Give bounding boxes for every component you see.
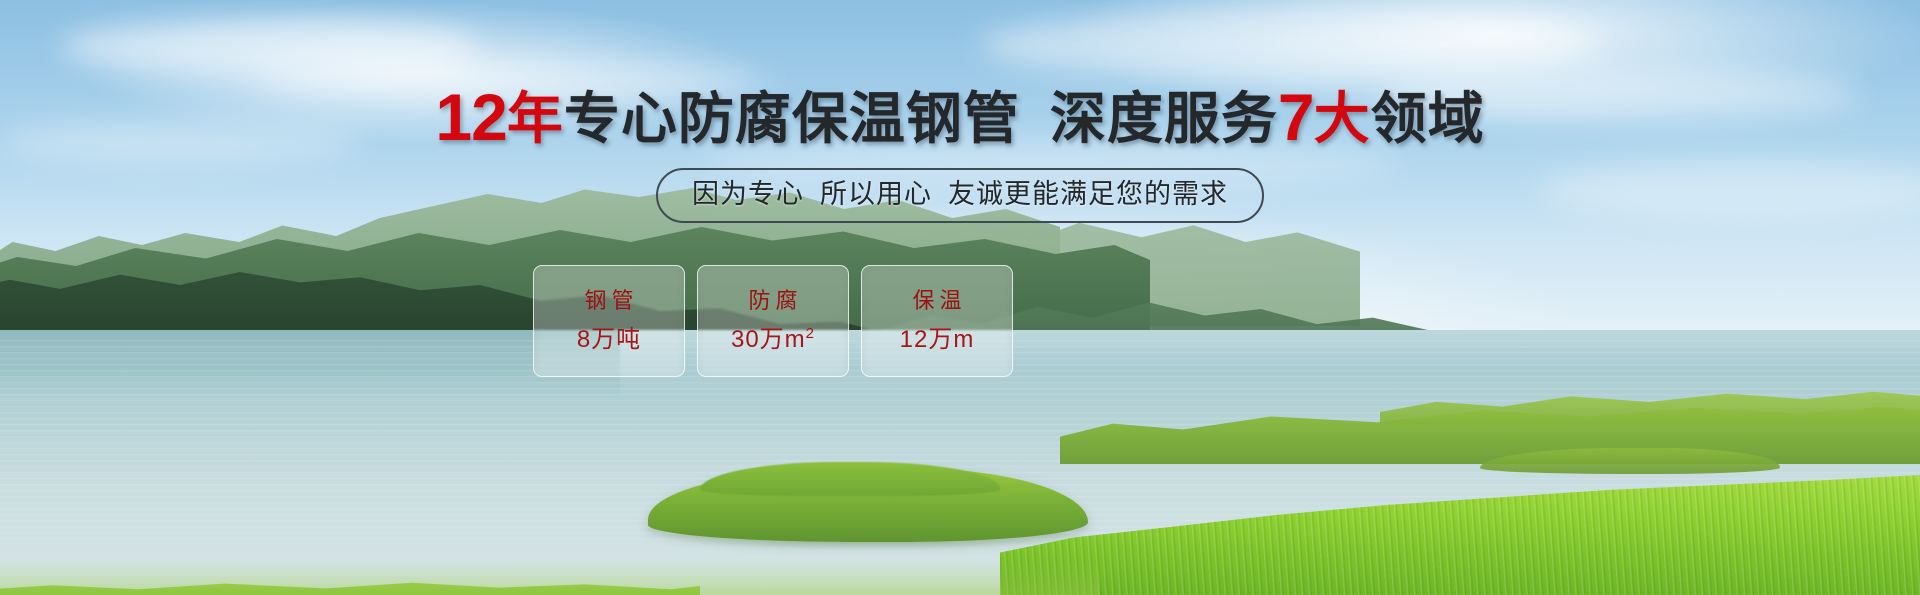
stat-card-title: 防腐 [743, 290, 802, 312]
stat-card-title: 钢管 [579, 290, 638, 312]
hero-banner: 12年专心防腐保温钢管深度服务7大领域 因为专心所以用心友诚更能满足您的需求 钢… [0, 0, 1920, 595]
stat-card-insulation[interactable]: 保温 12万m [861, 265, 1013, 377]
stat-card-value: 12万m [900, 326, 975, 352]
stat-card-value: 30万m2 [731, 326, 815, 352]
stat-card-anticorrosion[interactable]: 防腐 30万m2 [697, 265, 849, 377]
subtitle-part-3: 友诚更能满足您的需求 [948, 179, 1228, 209]
stat-card-title: 保温 [907, 290, 966, 312]
headline-years-unit: 年 [507, 87, 564, 150]
headline-main-text: 专心防腐保温钢管 [564, 87, 1020, 150]
headline-service-number: 7 [1278, 80, 1314, 154]
stat-card-steel-pipe[interactable]: 钢管 8万吨 [533, 265, 685, 377]
headline-service-unit: 大 [1314, 87, 1371, 150]
banner-headline: 12年专心防腐保温钢管深度服务7大领域 [0, 84, 1920, 150]
headline-service-text: 深度服务 [1050, 87, 1278, 150]
subtitle-part-2: 所以用心 [820, 179, 932, 209]
headline-years-number: 12 [435, 80, 506, 154]
stat-card-group: 钢管 8万吨 防腐 30万m2 保温 12万m [533, 265, 1013, 377]
stat-card-value: 8万吨 [577, 326, 641, 352]
cloud-shape [980, 10, 1600, 80]
headline-service-tail: 领域 [1371, 87, 1485, 150]
subtitle-pill: 因为专心所以用心友诚更能满足您的需求 [656, 168, 1264, 223]
subtitle-part-1: 因为专心 [692, 179, 804, 209]
